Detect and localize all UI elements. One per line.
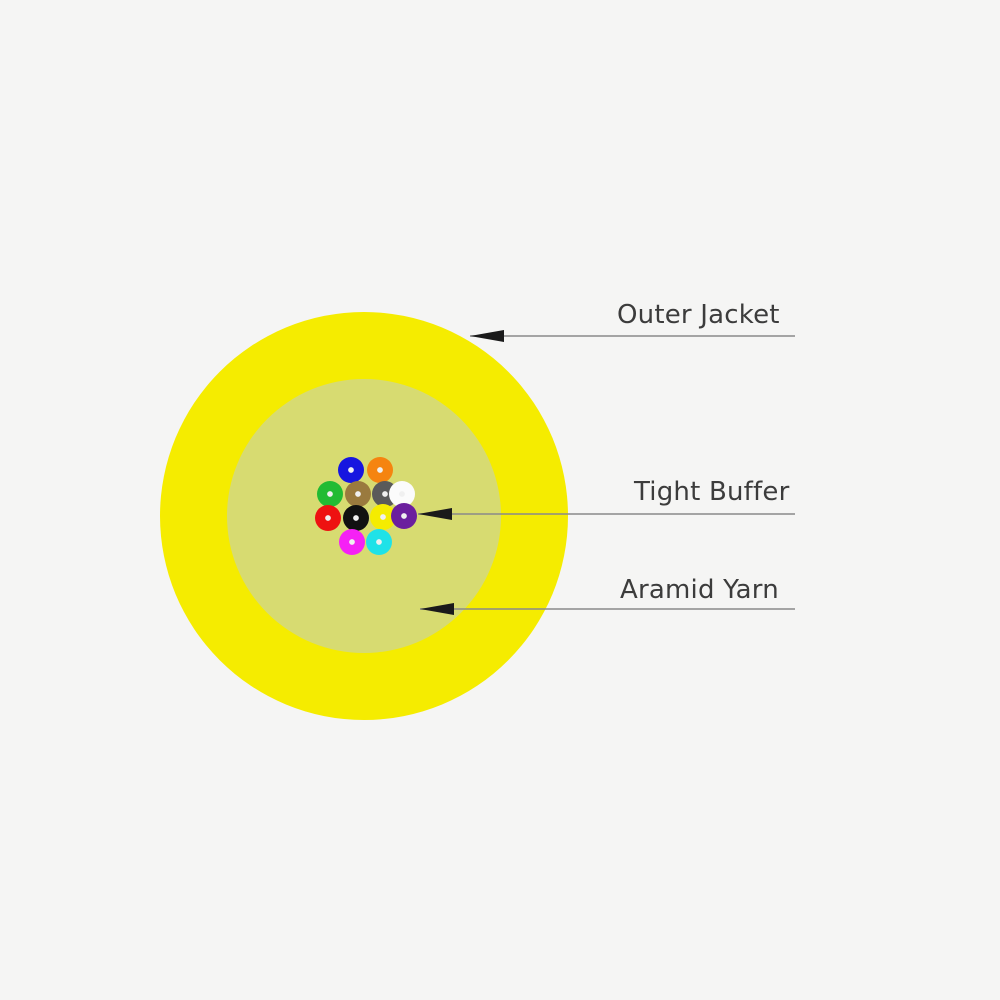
fiber-aqua [366,529,392,555]
fiber-cable-diagram: Outer JacketTight BufferAramid Yarn [0,0,1000,1000]
fiber-rose-core [349,539,355,545]
fiber-green [317,481,343,507]
fiber-blue [338,457,364,483]
fiber-orange [367,457,393,483]
fiber-black [343,505,369,531]
fiber-violet [391,503,417,529]
cable-cross-section-svg: Outer JacketTight BufferAramid Yarn [0,0,1000,1000]
fiber-black-core [353,515,359,521]
fiber-slate-core [382,491,388,497]
fiber-violet-core [401,513,407,519]
fiber-yellow-core [380,514,386,520]
callout-aramid-yarn-label: Aramid Yarn [620,575,779,605]
fiber-white [389,481,415,507]
callout-outer-jacket-label: Outer Jacket [617,300,780,330]
fiber-blue-core [348,467,354,473]
fiber-red [315,505,341,531]
fiber-green-core [327,491,333,497]
fiber-rose [339,529,365,555]
fiber-white-core [399,491,405,497]
fiber-red-core [325,515,331,521]
fiber-orange-core [377,467,383,473]
fiber-brown-core [355,491,361,497]
fiber-brown [345,481,371,507]
callout-tight-buffer-label: Tight Buffer [633,477,790,507]
fiber-aqua-core [376,539,382,545]
